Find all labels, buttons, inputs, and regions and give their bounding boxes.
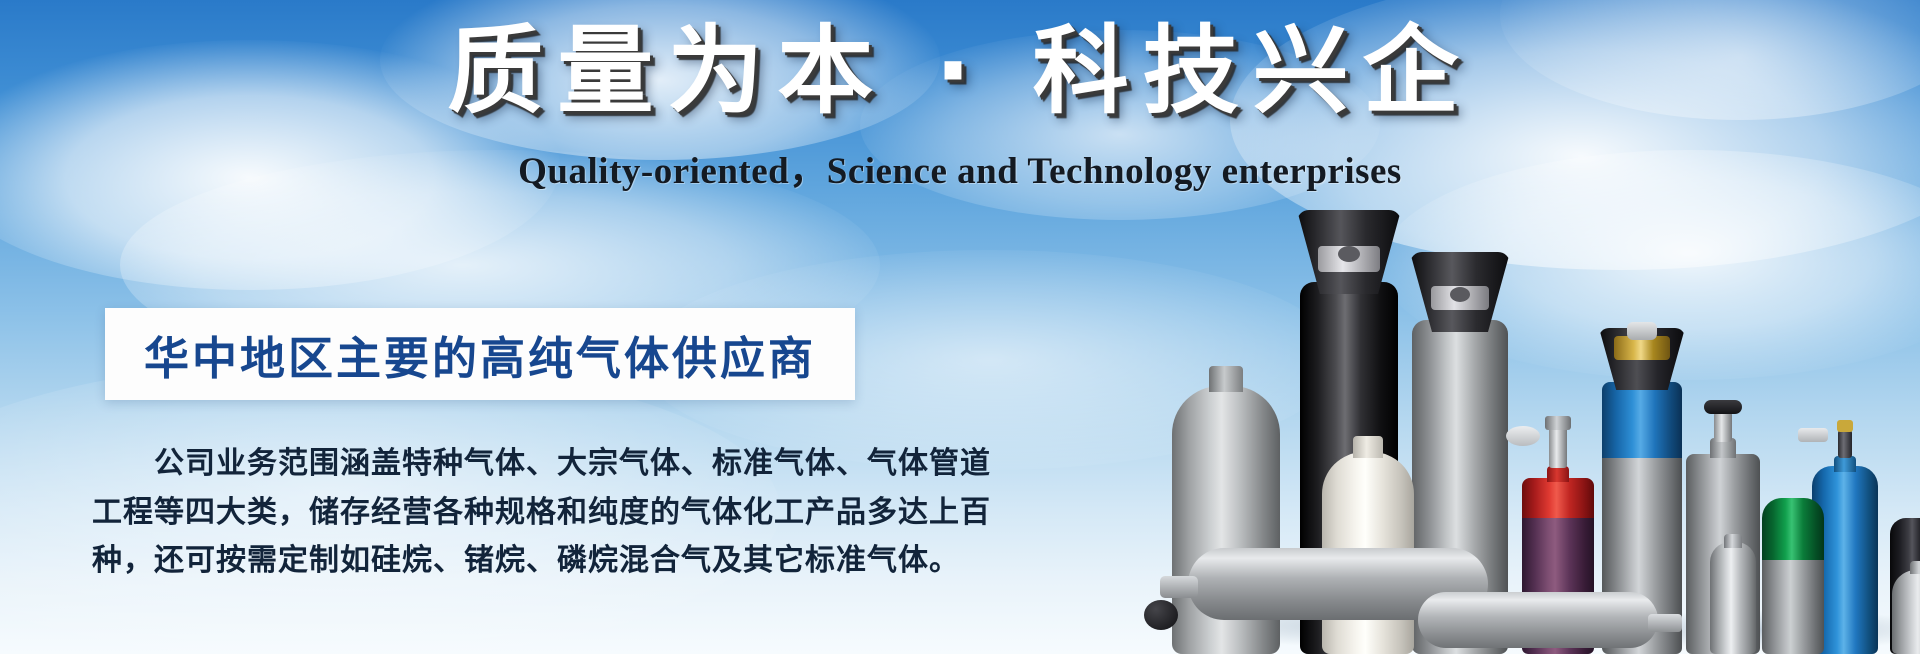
cylinder-white-cream xyxy=(1322,432,1414,654)
slogan-box: 华中地区主要的高纯气体供应商 xyxy=(105,308,855,400)
cylinder-handwheel xyxy=(1506,426,1540,446)
cylinder-horizontal-large-neck xyxy=(1160,576,1198,598)
cylinder-aluminium-stub xyxy=(1892,558,1920,654)
cylinder-horizontal-large-knob xyxy=(1144,600,1178,630)
hero-banner: 质量为本 · 科技兴企 Quality-oriented，Science and… xyxy=(0,0,1920,654)
banner-headline: 质量为本 · 科技兴企 xyxy=(0,18,1920,126)
gas-cylinders-image xyxy=(1150,160,1920,654)
description-line: 种，还可按需定制如硅烷、锗烷、磷烷混合气及其它标准气体。 xyxy=(92,537,882,586)
cylinder-aluminium-small xyxy=(1710,526,1756,654)
cylinder-valve-lever xyxy=(1798,428,1828,442)
cylinder-green-grey xyxy=(1762,494,1824,654)
company-description: 公司业务范围涵盖特种气体、大宗气体、标准气体、气体管道 工程等四大类，储存经营各… xyxy=(92,440,882,586)
description-line: 工程等四大类，储存经营各种规格和纯度的气体化工产品多达上百 xyxy=(92,489,882,538)
cylinder-horizontal-small xyxy=(1418,592,1658,648)
cylinder-blue-shoulder xyxy=(1602,382,1682,458)
description-line: 公司业务范围涵盖特种气体、大宗气体、标准气体、气体管道 xyxy=(92,440,882,489)
cylinder-green-shoulder xyxy=(1762,498,1824,560)
slogan-text: 华中地区主要的高纯气体供应商 xyxy=(144,322,816,387)
cylinder-horizontal-small-neck xyxy=(1648,614,1682,632)
cylinder-red-shoulder xyxy=(1522,478,1594,518)
